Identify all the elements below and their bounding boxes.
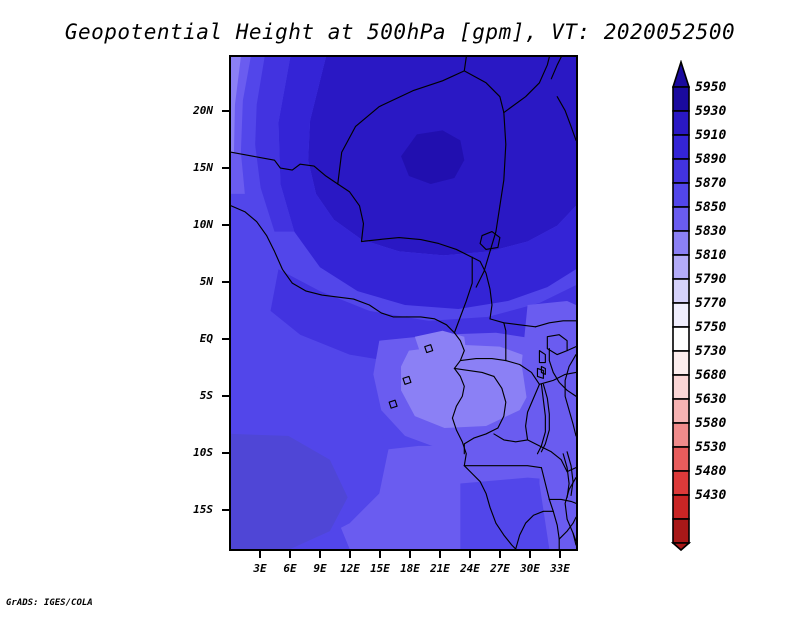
colorbar: [671, 60, 691, 552]
lat-tick-15N: [222, 167, 229, 169]
colorbar-label-5870: 5870: [695, 177, 726, 190]
colorbar-label-5810: 5810: [695, 249, 726, 262]
lon-tick-18E: [409, 551, 411, 558]
lon-tick-33E: [559, 551, 561, 558]
lon-tick-24E: [469, 551, 471, 558]
lat-label-15S: 15S: [155, 503, 213, 516]
colorbar-bottom-cap: [673, 543, 689, 550]
colorbar-label-5890: 5890: [695, 153, 726, 166]
lat-label-10S: 10S: [155, 446, 213, 459]
lon-tick-21E: [439, 551, 441, 558]
lat-label-10N: 10N: [155, 218, 213, 231]
colorbar-label-5850: 5850: [695, 201, 726, 214]
lon-tick-9E: [319, 551, 321, 558]
lon-tick-3E: [259, 551, 261, 558]
lat-label-5S: 5S: [155, 389, 213, 402]
lat-label-20N: 20N: [155, 104, 213, 117]
colorbar-top-cap: [673, 62, 689, 87]
lon-tick-27E: [499, 551, 501, 558]
lon-tick-30E: [529, 551, 531, 558]
colorbar-label-5790: 5790: [695, 273, 726, 286]
grads-attribution: GrADS: IGES/COLA: [6, 598, 93, 608]
lat-tick-EQ: [222, 338, 229, 340]
lat-label-5N: 5N: [155, 275, 213, 288]
page-title: Geopotential Height at 500hPa [gpm], VT:…: [0, 20, 800, 44]
lat-tick-5S: [222, 395, 229, 397]
colorbar-label-5680: 5680: [695, 369, 726, 382]
colorbar-label-5830: 5830: [695, 225, 726, 238]
colorbar-label-5630: 5630: [695, 393, 726, 406]
colorbar-swatches: [671, 60, 691, 552]
lat-tick-10N: [222, 224, 229, 226]
geopotential-height-contour-map: [231, 57, 576, 549]
colorbar-label-5930: 5930: [695, 105, 726, 118]
lon-tick-15E: [379, 551, 381, 558]
colorbar-label-5530: 5530: [695, 441, 726, 454]
colorbar-label-5950: 5950: [695, 81, 726, 94]
lat-label-15N: 15N: [155, 161, 213, 174]
lat-tick-10S: [222, 452, 229, 454]
colorbar-label-5910: 5910: [695, 129, 726, 142]
colorbar-label-5770: 5770: [695, 297, 726, 310]
lon-tick-12E: [349, 551, 351, 558]
lat-tick-15S: [222, 509, 229, 511]
lat-tick-5N: [222, 281, 229, 283]
lat-label-EQ: EQ: [155, 332, 213, 345]
colorbar-label-5580: 5580: [695, 417, 726, 430]
colorbar-label-5480: 5480: [695, 465, 726, 478]
map-plot-area: [229, 55, 578, 551]
lon-label-33E: 33E: [540, 562, 580, 575]
lat-tick-20N: [222, 110, 229, 112]
lon-tick-6E: [289, 551, 291, 558]
colorbar-label-5750: 5750: [695, 321, 726, 334]
colorbar-label-5430: 5430: [695, 489, 726, 502]
colorbar-label-5730: 5730: [695, 345, 726, 358]
